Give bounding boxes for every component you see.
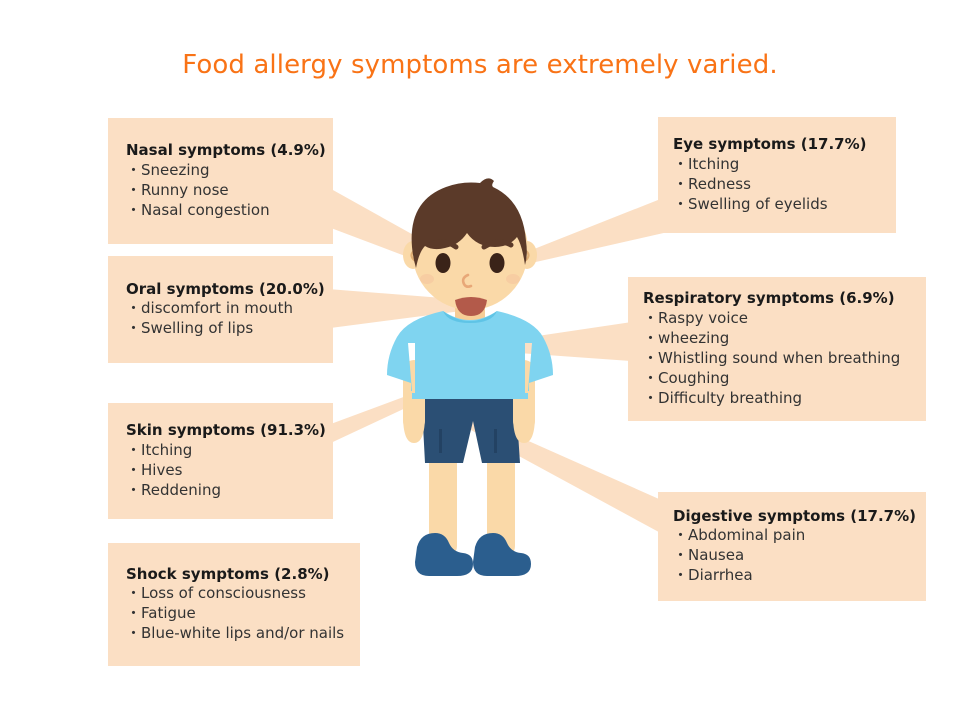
- list-item: Diarrhea: [673, 566, 926, 586]
- list-item: wheezing: [643, 329, 926, 349]
- left-cheek: [420, 274, 434, 284]
- list-item: Difficulty breathing: [643, 389, 926, 409]
- callout-symptom-list: Sneezing Runny nose Nasal congestion: [126, 161, 333, 221]
- callout-heading: Eye symptoms (17.7%): [673, 135, 896, 155]
- list-item: Raspy voice: [643, 309, 926, 329]
- list-item: Itching: [126, 441, 333, 461]
- list-item: Blue-white lips and/or nails: [126, 624, 360, 644]
- list-item: Whistling sound when breathing: [643, 349, 926, 369]
- list-item: Loss of consciousness: [126, 584, 360, 604]
- left-eye: [436, 253, 451, 273]
- shirt-body: [415, 365, 515, 391]
- list-item: Redness: [673, 175, 896, 195]
- callout-heading: Skin symptoms (91.3%): [126, 421, 333, 441]
- callout-symptom-list: Raspy voice wheezing Whistling sound whe…: [643, 309, 926, 409]
- list-item: Abdominal pain: [673, 526, 926, 546]
- callout-heading: Oral symptoms (20.0%): [126, 280, 333, 300]
- left-hand: [403, 415, 425, 443]
- callout-shock-symptoms[interactable]: Shock symptoms (2.8%) Loss of consciousn…: [108, 543, 360, 666]
- callout-heading: Nasal symptoms (4.9%): [126, 141, 333, 161]
- callout-symptom-list: Abdominal pain Nausea Diarrhea: [673, 526, 926, 586]
- callout-symptom-list: Itching Redness Swelling of eyelids: [673, 155, 896, 215]
- page-title: Food allergy symptoms are extremely vari…: [0, 50, 960, 80]
- callout-heading: Respiratory symptoms (6.9%): [643, 289, 926, 309]
- shorts-fold-left: [439, 429, 442, 453]
- callout-symptom-list: Itching Hives Reddening: [126, 441, 333, 501]
- list-item: Reddening: [126, 481, 333, 501]
- callout-nasal-symptoms[interactable]: Nasal symptoms (4.9%) Sneezing Runny nos…: [108, 118, 333, 244]
- right-shoe: [473, 533, 531, 576]
- right-ear: [517, 241, 537, 269]
- list-item: Itching: [673, 155, 896, 175]
- list-item: Sneezing: [126, 161, 333, 181]
- list-item: Nausea: [673, 546, 926, 566]
- callout-symptom-list: discomfort in mouth Swelling of lips: [126, 299, 333, 339]
- callout-skin-symptoms[interactable]: Skin symptoms (91.3%) Itching Hives Redd…: [108, 403, 333, 519]
- right-cheek: [506, 274, 520, 284]
- right-eye: [490, 253, 505, 273]
- callout-digestive-symptoms[interactable]: Digestive symptoms (17.7%) Abdominal pai…: [658, 492, 926, 601]
- callout-eye-symptoms[interactable]: Eye symptoms (17.7%) Itching Redness Swe…: [658, 117, 896, 233]
- list-item: Coughing: [643, 369, 926, 389]
- list-item: Fatigue: [126, 604, 360, 624]
- callout-heading: Digestive symptoms (17.7%): [673, 507, 926, 527]
- shorts-fold-right: [494, 429, 497, 453]
- list-item: Nasal congestion: [126, 201, 333, 221]
- left-shoe: [415, 533, 473, 576]
- infographic-canvas: Food allergy symptoms are extremely vari…: [0, 0, 960, 720]
- list-item: discomfort in mouth: [126, 299, 333, 319]
- boy-illustration: [355, 175, 605, 600]
- list-item: Swelling of eyelids: [673, 195, 896, 215]
- callout-respiratory-symptoms[interactable]: Respiratory symptoms (6.9%) Raspy voice …: [628, 277, 926, 421]
- list-item: Hives: [126, 461, 333, 481]
- list-item: Runny nose: [126, 181, 333, 201]
- list-item: Swelling of lips: [126, 319, 333, 339]
- callout-symptom-list: Loss of consciousness Fatigue Blue-white…: [126, 584, 360, 644]
- callout-oral-symptoms[interactable]: Oral symptoms (20.0%) discomfort in mout…: [108, 256, 333, 363]
- callout-heading: Shock symptoms (2.8%): [126, 565, 360, 585]
